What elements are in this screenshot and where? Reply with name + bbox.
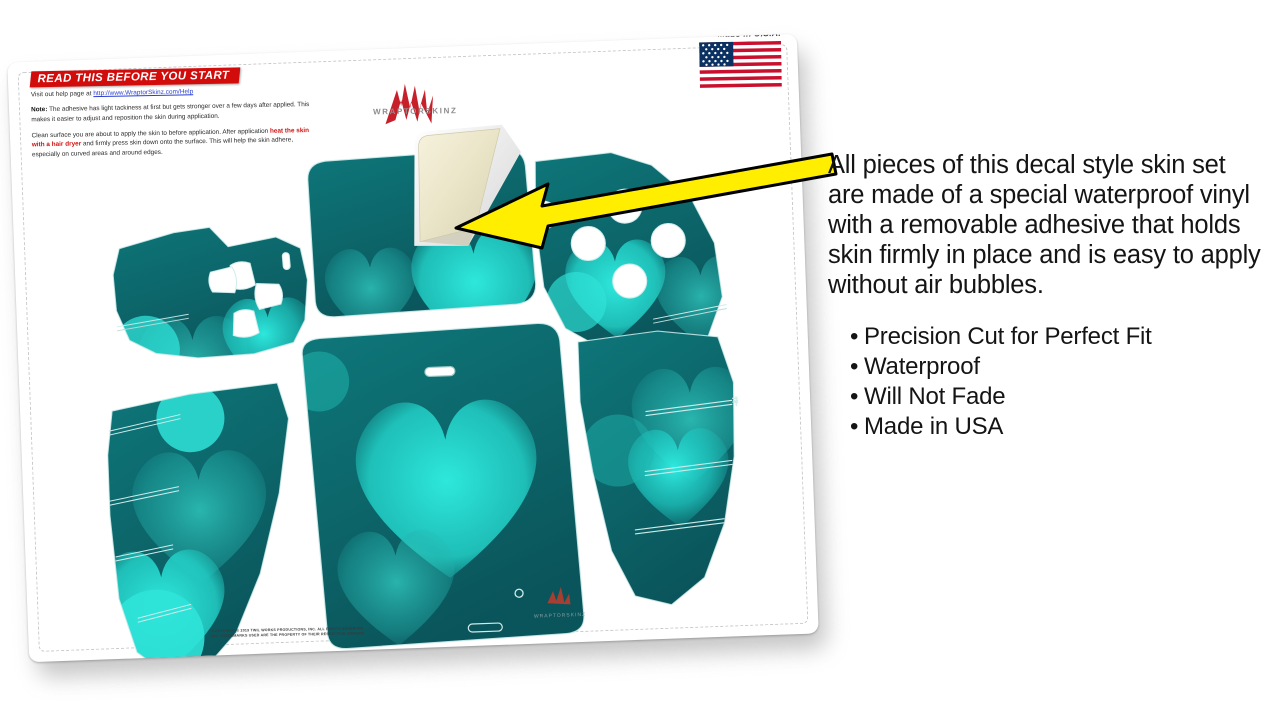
lightbar-cutout [425,366,455,376]
piece-right-grip [567,321,758,617]
feature-bullet-list: •Precision Cut for Perfect Fit •Waterpro… [850,322,1268,441]
list-item: •Will Not Fade [850,382,1268,412]
made-in-usa-label: Made In U.S.A. [609,34,781,41]
wraptorskinz-logo: WRAPTORSKINZ [345,79,486,137]
marketing-copy: All pieces of this decal style skin set … [828,150,1268,441]
feature-label: Will Not Fade [864,383,1005,410]
read-first-banner: READ THIS BEFORE YOU START [30,67,240,87]
bullet-glyph: • [850,382,864,412]
list-item: •Waterproof [850,352,1268,382]
feature-label: Made in USA [864,413,1003,440]
feature-label: Waterproof [864,353,980,380]
help-url-link[interactable]: http://www.WraptorSkinz.com/Help [93,88,193,97]
read-first-banner-label: READ THIS BEFORE YOU START [37,70,229,86]
bullet-glyph: • [850,352,864,382]
sheet-surface: WRAPTORSKINZ [7,34,818,663]
product-photo-scene: WRAPTORSKINZ [0,0,1280,715]
list-item: •Precision Cut for Perfect Fit [850,322,1268,352]
bullet-glyph: • [850,412,864,442]
help-line: Visit out help page at http://www.Wrapto… [31,85,313,100]
note-text: The adhesive has light tackiness at firs… [31,101,309,123]
peel-corner-arrow [430,140,840,260]
apply-paragraph: Clean surface you are about to apply the… [32,125,315,159]
piece-left-grip [91,372,310,662]
wraptor-wordmark: WRAPTORSKINZ [345,106,485,117]
bullet-glyph: • [850,322,864,352]
feature-label: Precision Cut for Perfect Fit [864,323,1152,350]
instructions-block: READ THIS BEFORE YOU START Visit out hel… [30,64,314,160]
decal-sheet: WRAPTORSKINZ [7,34,818,663]
note-label: Note: [31,106,47,113]
list-item: •Made in USA [850,412,1268,442]
usa-flag-icon [699,40,782,87]
fits-block: FITS Sony PS5 Controller Made In U.S.A. [609,34,782,90]
note-paragraph: Note: The adhesive has light tackiness a… [31,100,313,125]
help-prefix: Visit out help page at [31,90,94,98]
wraptor-bolt-icon [375,79,460,126]
piece-touchpad-plate: WRAPTORSKINZ [287,322,589,652]
marketing-paragraph: All pieces of this decal style skin set … [828,150,1268,300]
